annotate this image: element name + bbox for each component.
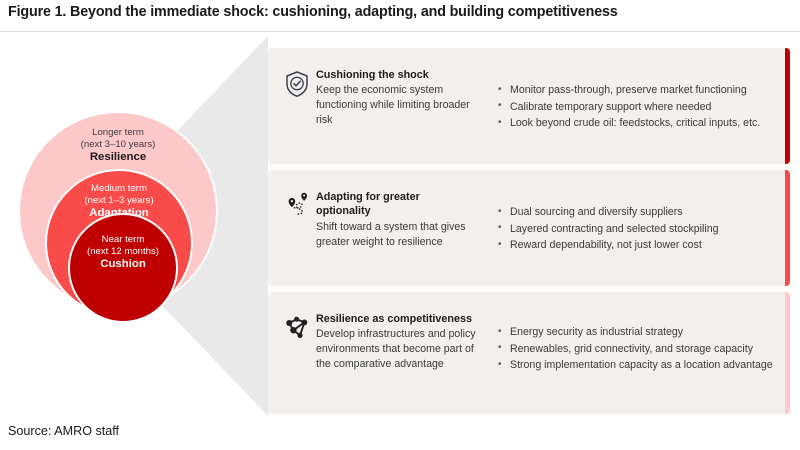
ring-term: Medium term xyxy=(47,183,191,195)
shield-check-icon xyxy=(280,70,314,98)
nested-circles-diagram: Longer term (next 3–10 years) Resilience… xyxy=(0,36,268,416)
card-bullet-list: Dual sourcing and diversify suppliers La… xyxy=(496,204,785,254)
ring-range: (next 3–10 years) xyxy=(20,139,216,151)
network-nodes-icon xyxy=(280,314,314,342)
card-resilience-as-competitiveness: Resilience as competitiveness Develop in… xyxy=(268,292,790,414)
card-bullet-list: Energy security as industrial strategy R… xyxy=(496,324,785,374)
list-item: Energy security as industrial strategy xyxy=(496,324,785,341)
card-heading: Cushioning the shock xyxy=(316,68,476,82)
figure-title: Figure 1. Beyond the immediate shock: cu… xyxy=(8,4,792,22)
ring-term: Longer term xyxy=(20,127,216,139)
list-item: Calibrate temporary support where needed xyxy=(496,99,785,116)
source-note: Source: AMRO staff xyxy=(8,424,119,438)
list-item: Strong implementation capacity as a loca… xyxy=(496,357,785,374)
card-description: Develop infrastructures and policy envir… xyxy=(316,327,476,372)
card-description: Shift toward a system that gives greater… xyxy=(316,220,476,250)
list-item: Look beyond crude oil: feedstocks, criti… xyxy=(496,115,785,132)
ring-cushion-label: Near term (next 12 months) Cushion xyxy=(70,234,176,272)
ring-name: Resilience xyxy=(20,151,216,165)
card-accent-bar xyxy=(785,292,790,414)
card-text-block: Cushioning the shock Keep the economic s… xyxy=(316,68,476,128)
list-item: Reward dependability, not just lower cos… xyxy=(496,237,785,254)
card-heading: Resilience as competitiveness xyxy=(316,312,476,326)
list-item: Monitor pass-through, preserve market fu… xyxy=(496,82,785,99)
list-item: Layered contracting and selected stockpi… xyxy=(496,221,785,238)
card-accent-bar xyxy=(785,48,790,164)
list-item: Renewables, grid connectivity, and stora… xyxy=(496,341,785,358)
ring-range: (next 1–3 years) xyxy=(47,195,191,207)
card-adapting-for-greater-optionality: Adapting for greater optionality Shift t… xyxy=(268,170,790,286)
ring-term: Near term xyxy=(70,234,176,246)
card-accent-bar xyxy=(785,170,790,286)
ring-cushion: Near term (next 12 months) Cushion xyxy=(68,213,178,323)
card-heading: Adapting for greater optionality xyxy=(316,190,476,219)
card-text-block: Adapting for greater optionality Shift t… xyxy=(316,190,476,250)
card-cushioning-the-shock: Cushioning the shock Keep the economic s… xyxy=(268,48,790,164)
card-inner: Resilience as competitiveness Develop in… xyxy=(268,292,785,414)
card-inner: Cushioning the shock Keep the economic s… xyxy=(268,48,785,164)
ring-resilience-label: Longer term (next 3–10 years) Resilience xyxy=(20,127,216,165)
ring-name: Cushion xyxy=(70,258,176,272)
card-text-block: Resilience as competitiveness Develop in… xyxy=(316,312,476,372)
card-inner: Adapting for greater optionality Shift t… xyxy=(268,170,785,286)
route-pins-icon xyxy=(280,192,314,220)
card-description: Keep the economic system functioning whi… xyxy=(316,83,476,128)
list-item: Dual sourcing and diversify suppliers xyxy=(496,204,785,221)
card-bullet-list: Monitor pass-through, preserve market fu… xyxy=(496,82,785,132)
title-divider xyxy=(0,31,800,32)
ring-range: (next 12 months) xyxy=(70,246,176,258)
